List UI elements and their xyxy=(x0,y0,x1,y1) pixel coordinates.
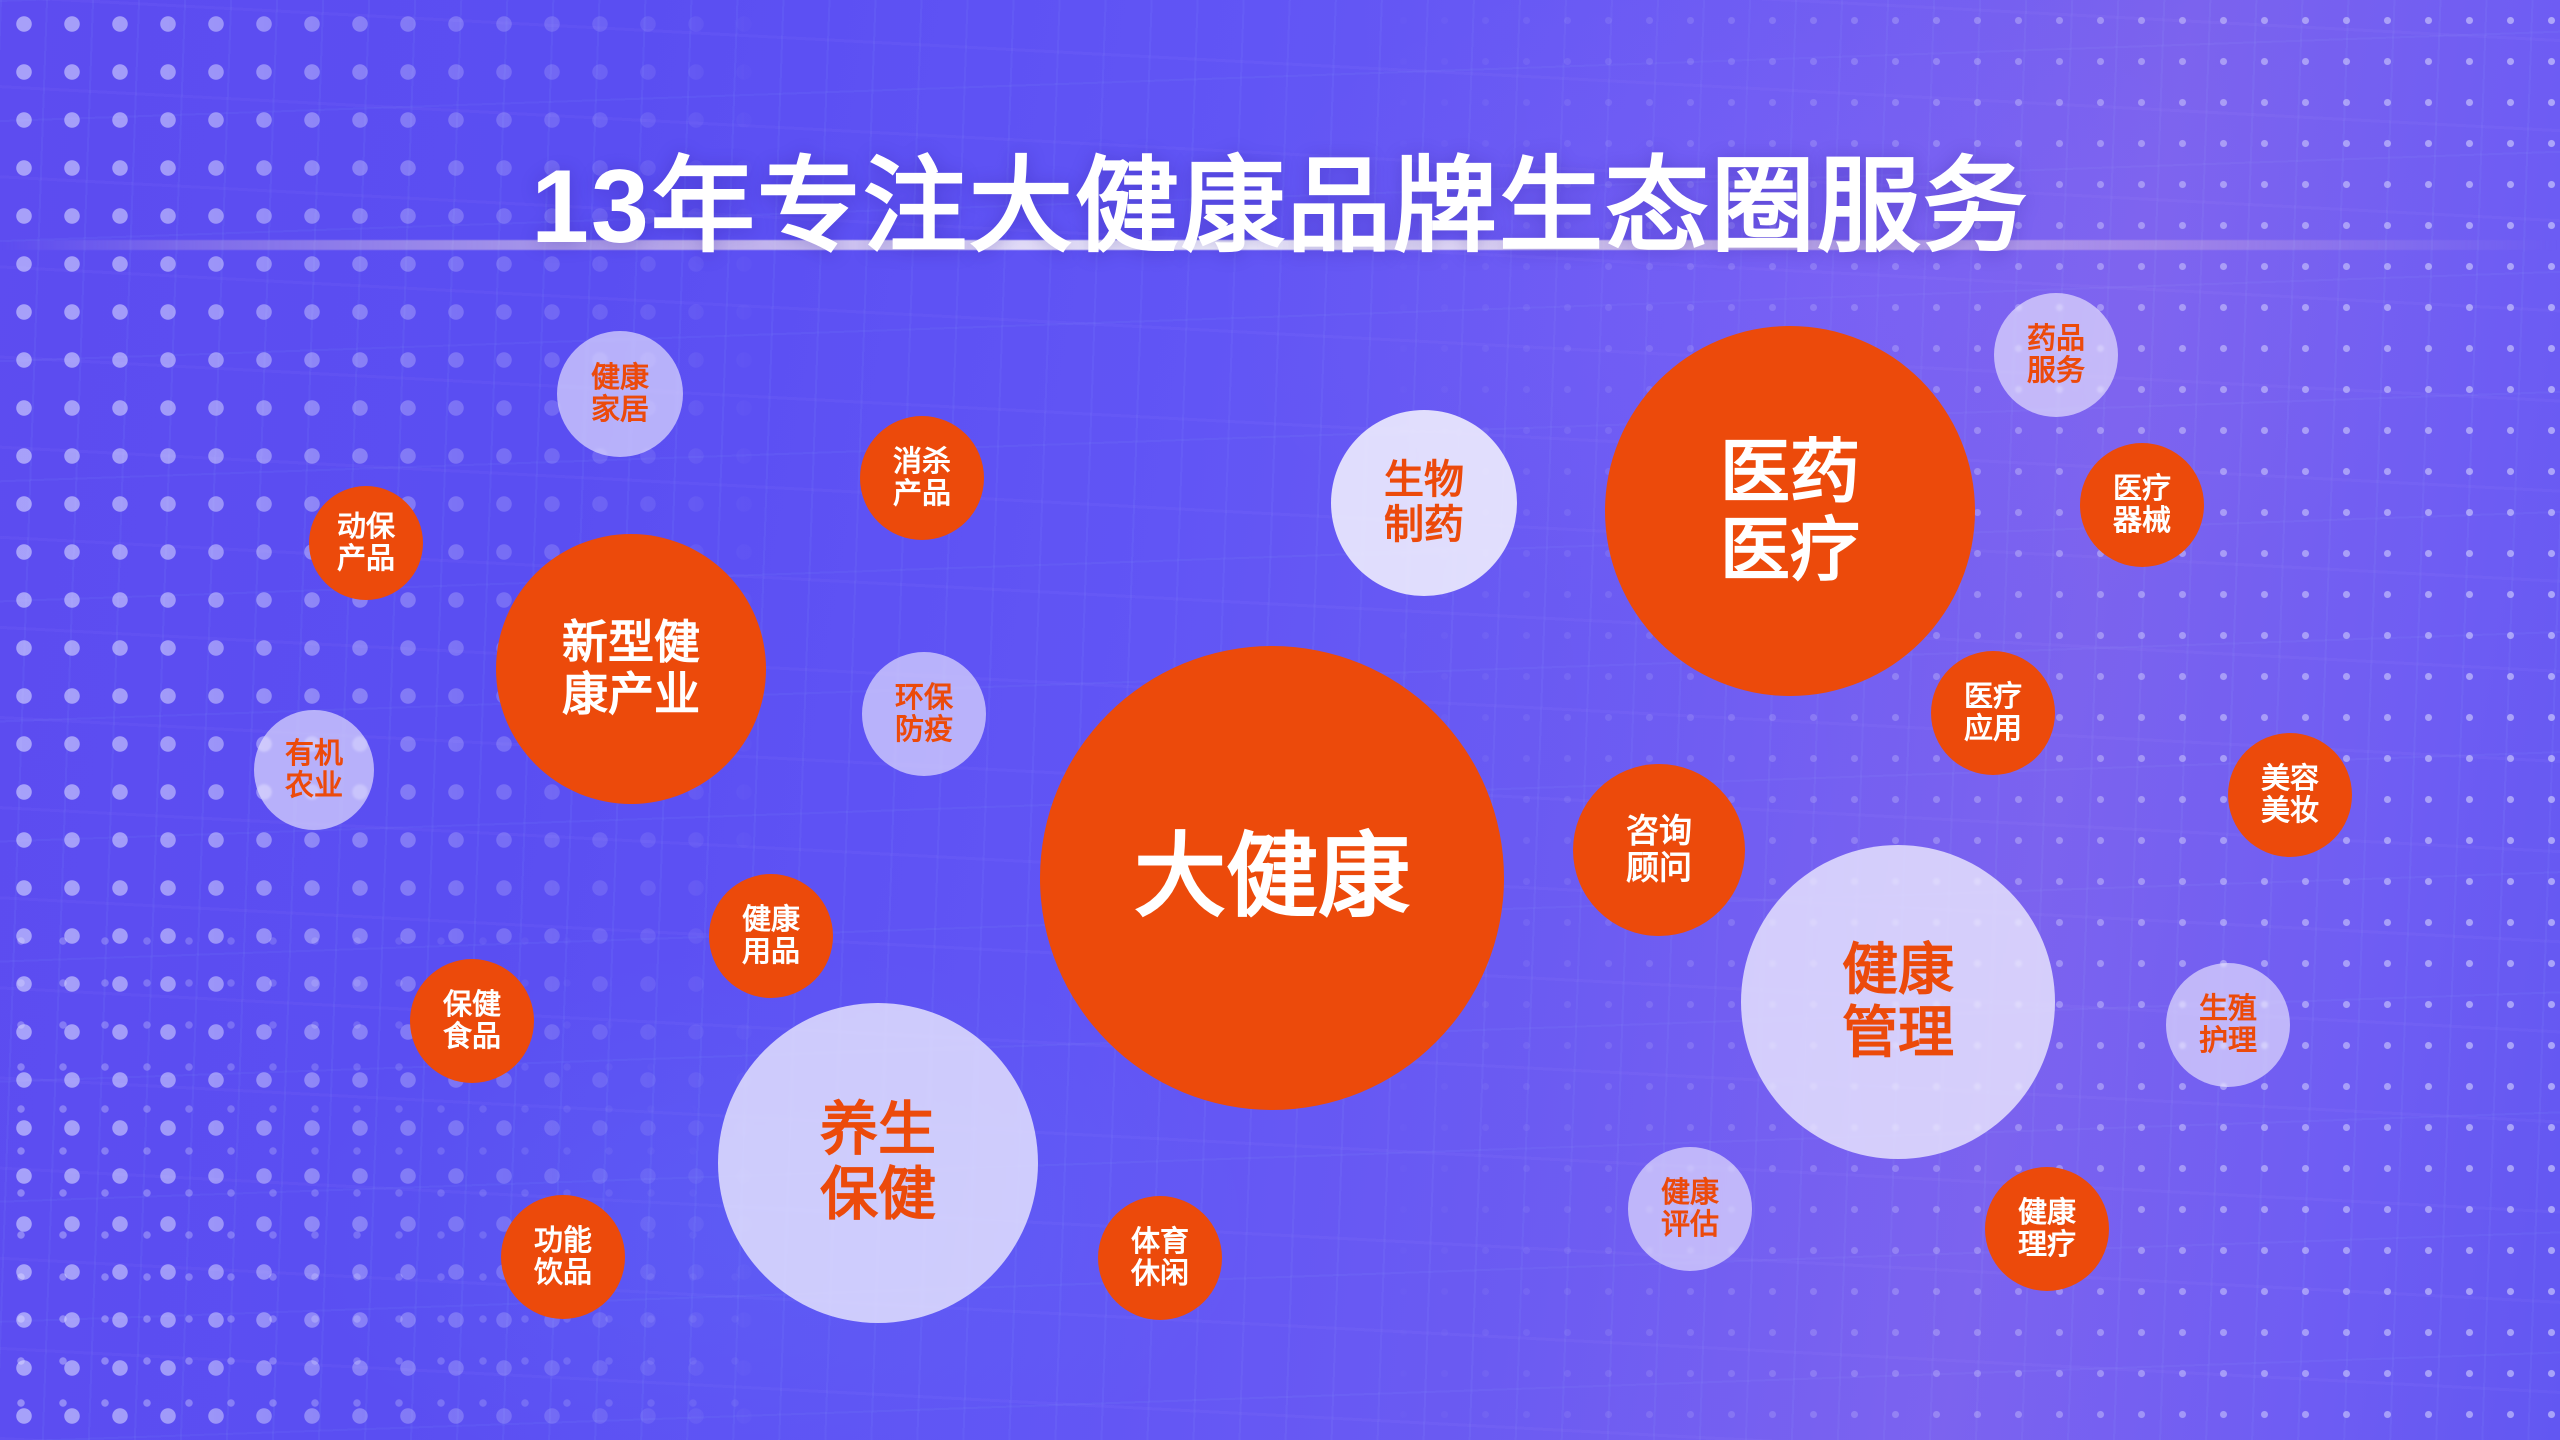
bubble-label: 大健康 xyxy=(1134,826,1410,929)
bubble-label: 体育 休闲 xyxy=(1131,1226,1189,1291)
bubble-label: 健康 管理 xyxy=(1842,939,1954,1064)
bubble-label: 功能 饮品 xyxy=(534,1225,592,1290)
bubble-label: 医疗 器械 xyxy=(2113,473,2171,538)
bubble-beauty-cosmetics[interactable]: 美容 美妆 xyxy=(2228,733,2352,857)
bubble-label: 生殖 护理 xyxy=(2199,993,2257,1058)
bubble-label: 医疗 应用 xyxy=(1964,681,2022,746)
bubble-sports-leisure[interactable]: 体育 休闲 xyxy=(1098,1196,1222,1320)
bubble-health-management[interactable]: 健康 管理 xyxy=(1741,845,2055,1159)
bubble-health-therapy[interactable]: 健康 理疗 xyxy=(1985,1167,2109,1291)
bubble-medical-device[interactable]: 医疗 器械 xyxy=(2080,443,2204,567)
bubble-drug-service[interactable]: 药品 服务 xyxy=(1994,293,2118,417)
bubble-disinfection[interactable]: 消杀 产品 xyxy=(860,416,984,540)
bubble-animal-protection[interactable]: 动保 产品 xyxy=(309,486,423,600)
halftone-dots-bottom-left xyxy=(0,920,760,1440)
bubble-wellness-care[interactable]: 养生 保健 xyxy=(718,1003,1038,1323)
bubble-pharma-medical[interactable]: 医药 医疗 xyxy=(1605,326,1975,696)
bubble-label: 健康 评估 xyxy=(1661,1177,1719,1242)
bubble-label: 环保 防疫 xyxy=(895,682,953,747)
bubble-label: 有机 农业 xyxy=(285,738,343,803)
infographic-canvas: 13年专注大健康品牌生态圈服务 健康 家居动保 产品消杀 产品药品 服务医疗 器… xyxy=(0,0,2560,1440)
bubble-label: 健康 用品 xyxy=(742,904,800,969)
bubble-health-supplies[interactable]: 健康 用品 xyxy=(709,874,833,998)
bubble-bio-pharma[interactable]: 生物 制药 xyxy=(1331,410,1517,596)
bubble-label: 生物 制药 xyxy=(1384,458,1464,548)
bubble-label: 咨询 顾问 xyxy=(1626,813,1692,887)
bubble-eco-epidemic[interactable]: 环保 防疫 xyxy=(862,652,986,776)
bubble-label: 动保 产品 xyxy=(337,511,395,576)
bubble-new-health-industry[interactable]: 新型健 康产业 xyxy=(496,534,766,804)
page-title: 13年专注大健康品牌生态圈服务 xyxy=(0,152,2560,262)
bubble-health-assessment[interactable]: 健康 评估 xyxy=(1628,1147,1752,1271)
bubble-reproductive-care[interactable]: 生殖 护理 xyxy=(2166,963,2290,1087)
bubble-health-food[interactable]: 保健 食品 xyxy=(410,959,534,1083)
bubble-organic-agri[interactable]: 有机 农业 xyxy=(254,710,374,830)
bubble-label: 健康 家居 xyxy=(591,362,649,427)
bubble-label: 消杀 产品 xyxy=(893,446,951,511)
bubble-label: 健康 理疗 xyxy=(2018,1197,2076,1262)
bubble-consulting[interactable]: 咨询 顾问 xyxy=(1573,764,1745,936)
bubble-label: 保健 食品 xyxy=(443,989,501,1054)
bubble-functional-drinks[interactable]: 功能 饮品 xyxy=(501,1195,625,1319)
bubble-medical-app[interactable]: 医疗 应用 xyxy=(1931,651,2055,775)
bubble-label: 新型健 康产业 xyxy=(562,617,700,720)
bubble-health-home[interactable]: 健康 家居 xyxy=(557,331,683,457)
bubble-label: 医药 医疗 xyxy=(1720,433,1860,590)
bubble-great-health[interactable]: 大健康 xyxy=(1040,646,1504,1110)
bubble-label: 美容 美妆 xyxy=(2261,763,2319,828)
bubble-label: 药品 服务 xyxy=(2027,323,2085,388)
bubble-label: 养生 保健 xyxy=(820,1098,936,1228)
